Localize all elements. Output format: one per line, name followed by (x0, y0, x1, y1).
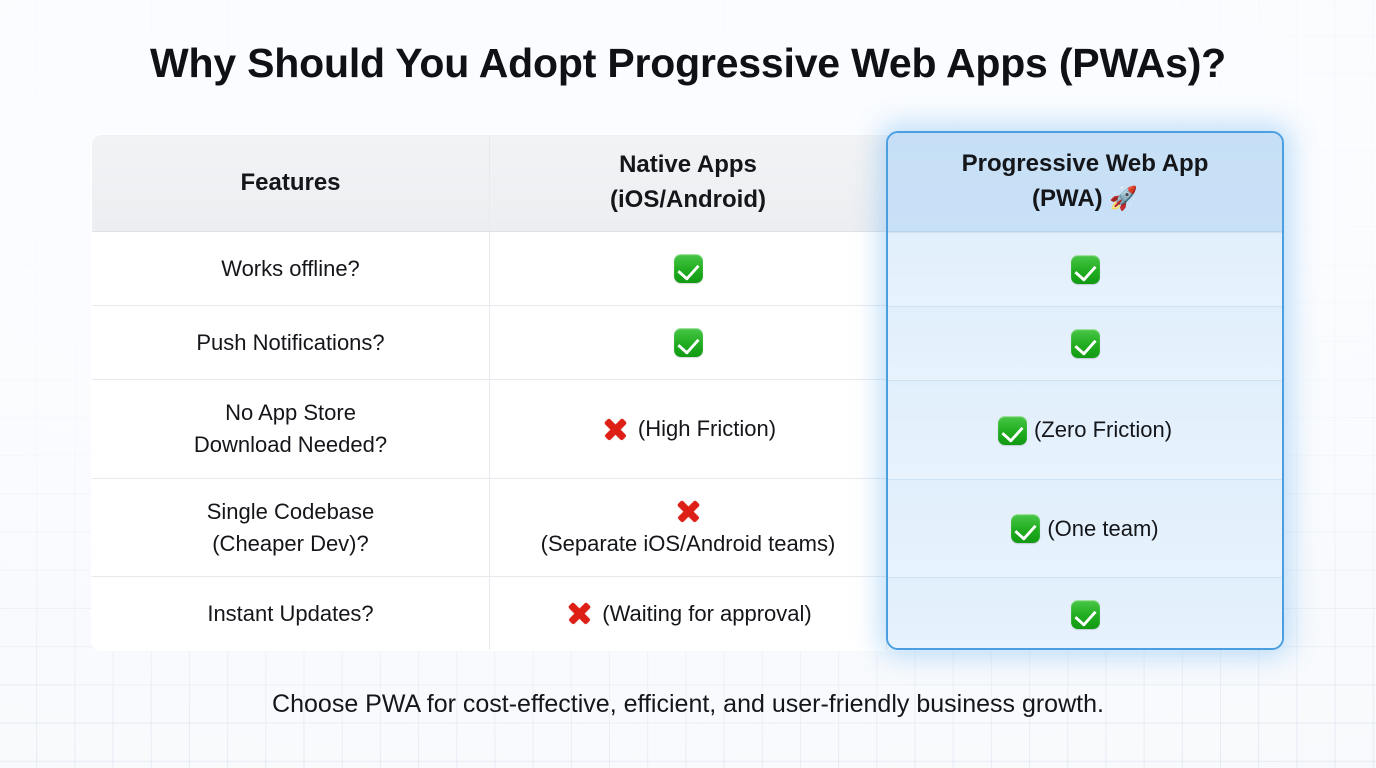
native-note: (Separate iOS/Android teams) (541, 528, 836, 560)
column-header-features: Features (92, 135, 490, 232)
feature-cell: No App Store Download Needed? (92, 380, 490, 479)
column-header-pwa: Progressive Web App (PWA) 🚀 (888, 133, 1282, 232)
native-note: (Waiting for approval) (602, 598, 811, 630)
check-icon (674, 328, 703, 357)
pwa-note: (One team) (1047, 516, 1158, 542)
column-header-native-line1: Native Apps (490, 148, 886, 183)
pwa-value: (One team) (1011, 514, 1158, 543)
feature-label-line2: (Cheaper Dev)? (92, 528, 489, 560)
pwa-value: (Zero Friction) (998, 416, 1172, 445)
native-value (490, 328, 886, 357)
cross-icon (600, 413, 631, 444)
native-note: (High Friction) (638, 413, 776, 445)
footer-caption: Choose PWA for cost-effective, efficient… (0, 690, 1376, 719)
feature-label-line1: Instant Updates? (92, 598, 489, 630)
feature-cell: Instant Updates? (92, 577, 490, 651)
check-icon (674, 254, 703, 283)
cross-icon (564, 598, 595, 629)
check-icon (998, 416, 1027, 445)
native-cell (490, 232, 887, 306)
native-value: (Waiting for approval) (490, 598, 886, 630)
check-icon (1071, 255, 1100, 284)
pwa-cell (888, 306, 1282, 380)
column-header-native-line2: (iOS/Android) (490, 183, 886, 218)
check-icon (1071, 329, 1100, 358)
pwa-cell: (One team) (888, 479, 1282, 577)
check-icon (1011, 514, 1040, 543)
column-header-pwa-line2: (PWA) (1032, 185, 1103, 212)
native-cell (490, 306, 887, 380)
feature-cell: Push Notifications? (92, 306, 490, 380)
native-value: (High Friction) (490, 413, 886, 445)
pwa-cell (888, 232, 1282, 306)
feature-cell: Works offline? (92, 232, 490, 306)
pwa-cell: (Zero Friction) (888, 380, 1282, 479)
rocket-icon: 🚀 (1109, 185, 1138, 211)
pwa-highlight-column[interactable]: Progressive Web App (PWA) 🚀 (Zero Fricti… (886, 131, 1284, 650)
native-cell: (Waiting for approval) (490, 577, 887, 651)
page-title: Why Should You Adopt Progressive Web App… (0, 40, 1376, 87)
feature-label-line1: No App Store (92, 397, 489, 429)
pwa-note: (Zero Friction) (1034, 417, 1172, 443)
feature-label-line1: Single Codebase (92, 496, 489, 528)
feature-cell: Single Codebase (Cheaper Dev)? (92, 479, 490, 577)
native-value: (Separate iOS/Android teams) (490, 495, 886, 560)
feature-label-line2: Download Needed? (92, 429, 489, 461)
cross-icon (673, 495, 704, 526)
native-value (490, 254, 886, 283)
feature-label-line1: Push Notifications? (92, 327, 489, 359)
infographic-page: Why Should You Adopt Progressive Web App… (0, 0, 1376, 768)
column-header-pwa-line2-wrap: (PWA) 🚀 (962, 182, 1209, 217)
column-header-pwa-line1: Progressive Web App (962, 147, 1209, 182)
column-header-features-label: Features (92, 166, 489, 201)
pwa-cell (888, 577, 1282, 650)
native-cell: (High Friction) (490, 380, 887, 479)
native-cell: (Separate iOS/Android teams) (490, 479, 887, 577)
column-header-native: Native Apps (iOS/Android) (490, 135, 887, 232)
check-icon (1071, 600, 1100, 629)
feature-label-line1: Works offline? (92, 253, 489, 285)
